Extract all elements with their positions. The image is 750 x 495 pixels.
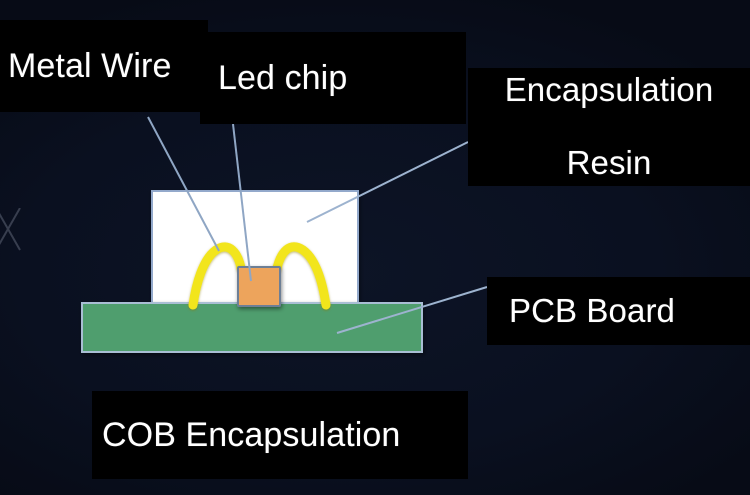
label-led-chip: Led chip [200, 32, 466, 124]
label-encapsulation-resin-line2: Resin [478, 145, 740, 182]
label-encapsulation-resin: Encapsulation Resin [468, 68, 750, 186]
label-cob-encapsulation: COB Encapsulation [92, 391, 468, 479]
pcb-board-block [82, 303, 422, 352]
label-metal-wire: Metal Wire [0, 20, 208, 112]
label-pcb-board: PCB Board [487, 277, 750, 345]
led-chip-block [238, 267, 280, 306]
screenshot-canvas: Metal Wire Led chip Encapsulation Resin … [0, 0, 750, 495]
label-pcb-board-text: PCB Board [509, 293, 750, 330]
label-cob-encapsulation-text: COB Encapsulation [102, 416, 468, 454]
label-encapsulation-resin-line1: Encapsulation [478, 72, 740, 109]
label-metal-wire-text: Metal Wire [8, 47, 208, 85]
label-led-chip-text: Led chip [218, 59, 466, 97]
leader-line-encapsulation-resin [307, 142, 468, 222]
label-encapsulation-resin-text: Encapsulation Resin [478, 72, 740, 183]
